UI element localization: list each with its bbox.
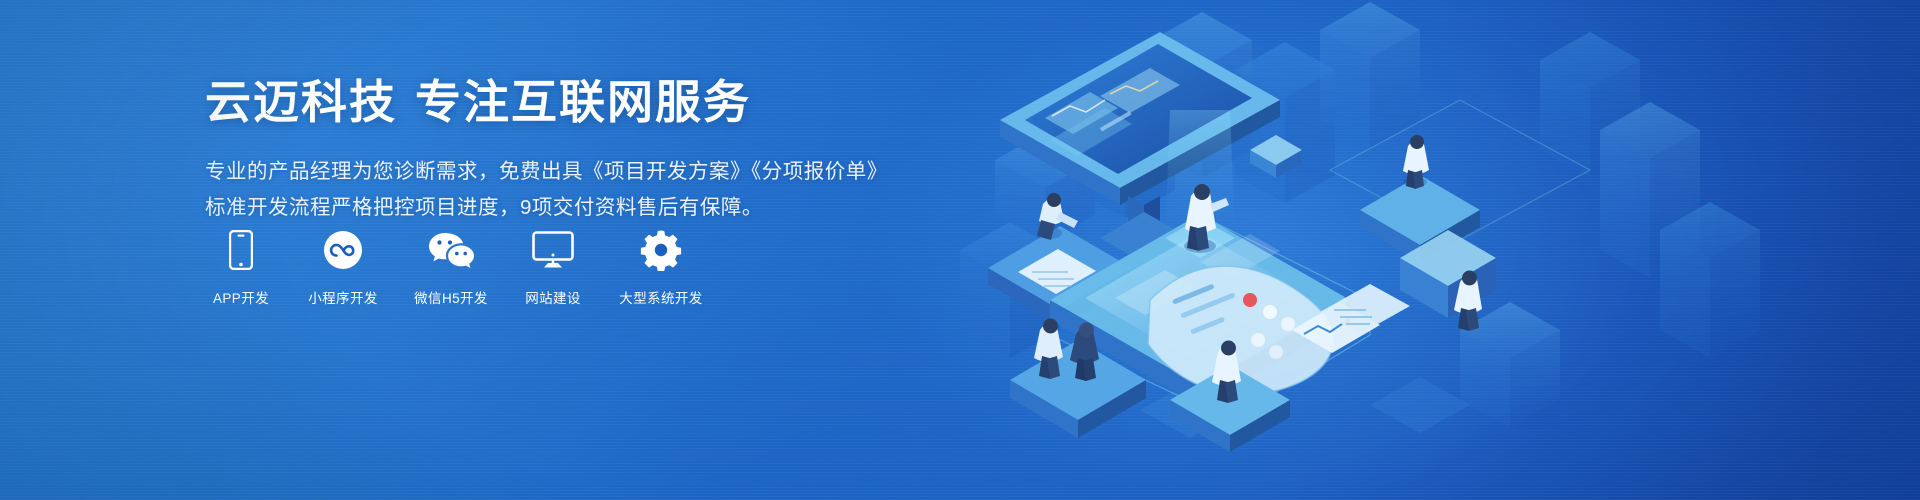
wechat-icon (428, 228, 474, 272)
page-title: 云迈科技专注互联网服务 (205, 74, 965, 132)
page-title-part2: 专注互联网服务 (415, 76, 751, 128)
mobile-phone-icon (229, 228, 253, 272)
page-title-part1: 云迈科技 (205, 76, 397, 128)
subtitle-line-2: 标准开发流程严格把控项目进度，9项交付资料售后有保障。 (205, 190, 965, 226)
subtitle-line-1: 专业的产品经理为您诊断需求，免费出具《项目开发方案》《分项报价单》 (205, 154, 965, 190)
gear-icon (640, 228, 682, 272)
service-label-app: APP开发 (213, 287, 269, 307)
service-label-wechat-h5: 微信H5开发 (414, 287, 488, 307)
service-item-system[interactable]: 大型系统开发 (613, 228, 709, 307)
monitor-icon (532, 228, 574, 272)
service-label-system: 大型系统开发 (619, 287, 702, 307)
service-label-miniprogram: 小程序开发 (308, 287, 378, 307)
hero-copy: 云迈科技专注互联网服务 专业的产品经理为您诊断需求，免费出具《项目开发方案》《分… (205, 74, 965, 227)
service-item-website[interactable]: 网站建设 (517, 228, 589, 307)
service-item-app[interactable]: APP开发 (205, 228, 277, 307)
service-list: APP开发 小程序开发 微信 (205, 228, 709, 307)
person-right-upper (1403, 135, 1429, 189)
service-item-wechat-h5[interactable]: 微信H5开发 (409, 228, 493, 307)
service-label-website: 网站建设 (525, 287, 581, 307)
hero-banner: 云迈科技专注互联网服务 专业的产品经理为您诊断需求，免费出具《项目开发方案》《分… (0, 0, 1920, 500)
data-ribbon (1148, 266, 1380, 394)
mini-program-icon (323, 228, 363, 272)
isometric-tech-illustration (900, 0, 1920, 500)
illustration-container (900, 0, 1920, 500)
service-item-miniprogram[interactable]: 小程序开发 (301, 228, 385, 307)
